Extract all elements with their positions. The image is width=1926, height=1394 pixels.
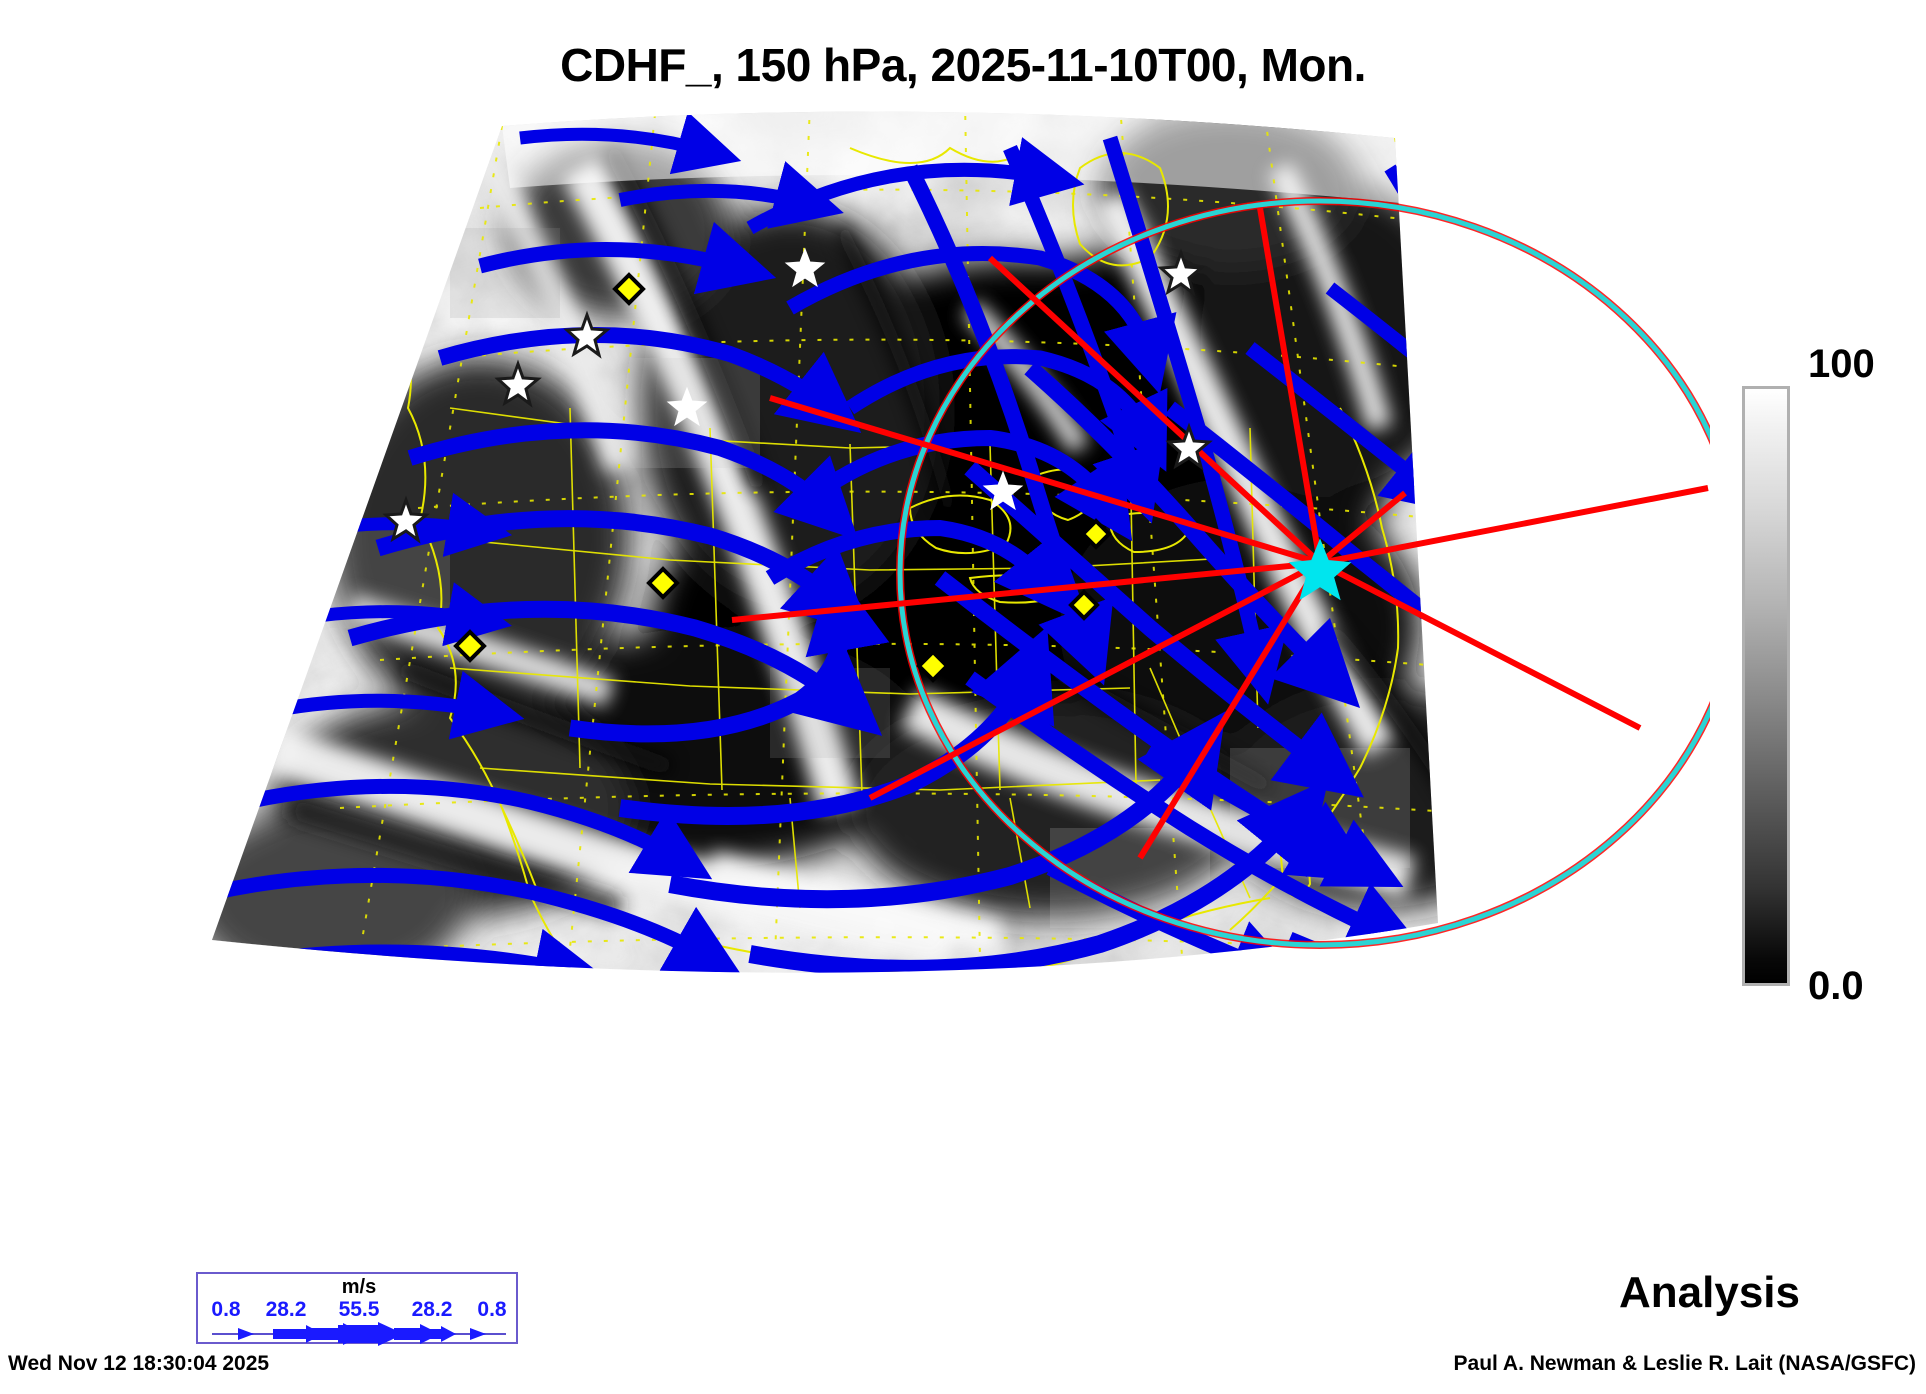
colorbar-min-label: 0.0 <box>1808 964 1864 1009</box>
legend-tick-1: 28.2 <box>255 1298 317 1322</box>
legend-tick-0: 0.8 <box>195 1298 257 1322</box>
legend-tick-2: 55.5 <box>328 1298 390 1322</box>
generation-timestamp: Wed Nov 12 18:30:04 2025 <box>8 1352 269 1376</box>
legend-tick-3: 28.2 <box>401 1298 463 1322</box>
colorbar-gradient <box>1742 386 1790 986</box>
colorbar: 100 0.0 <box>1742 386 1922 1006</box>
legend-arrow-scale <box>198 1322 520 1346</box>
legend-unit-label: m/s <box>198 1276 520 1299</box>
analysis-label: Analysis <box>1619 1268 1800 1318</box>
colorbar-max-label: 100 <box>1808 342 1875 387</box>
map-panel[interactable] <box>150 108 1710 1238</box>
map-plot[interactable] <box>150 108 1710 1238</box>
legend-tick-4: 0.8 <box>461 1298 523 1322</box>
page-title: CDHF_, 150 hPa, 2025-11-10T00, Mon. <box>0 38 1926 92</box>
author-credit: Paul A. Newman & Leslie R. Lait (NASA/GS… <box>1454 1352 1916 1376</box>
wind-speed-legend: m/s 0.8 28.2 55.5 28.2 0.8 <box>196 1272 518 1344</box>
